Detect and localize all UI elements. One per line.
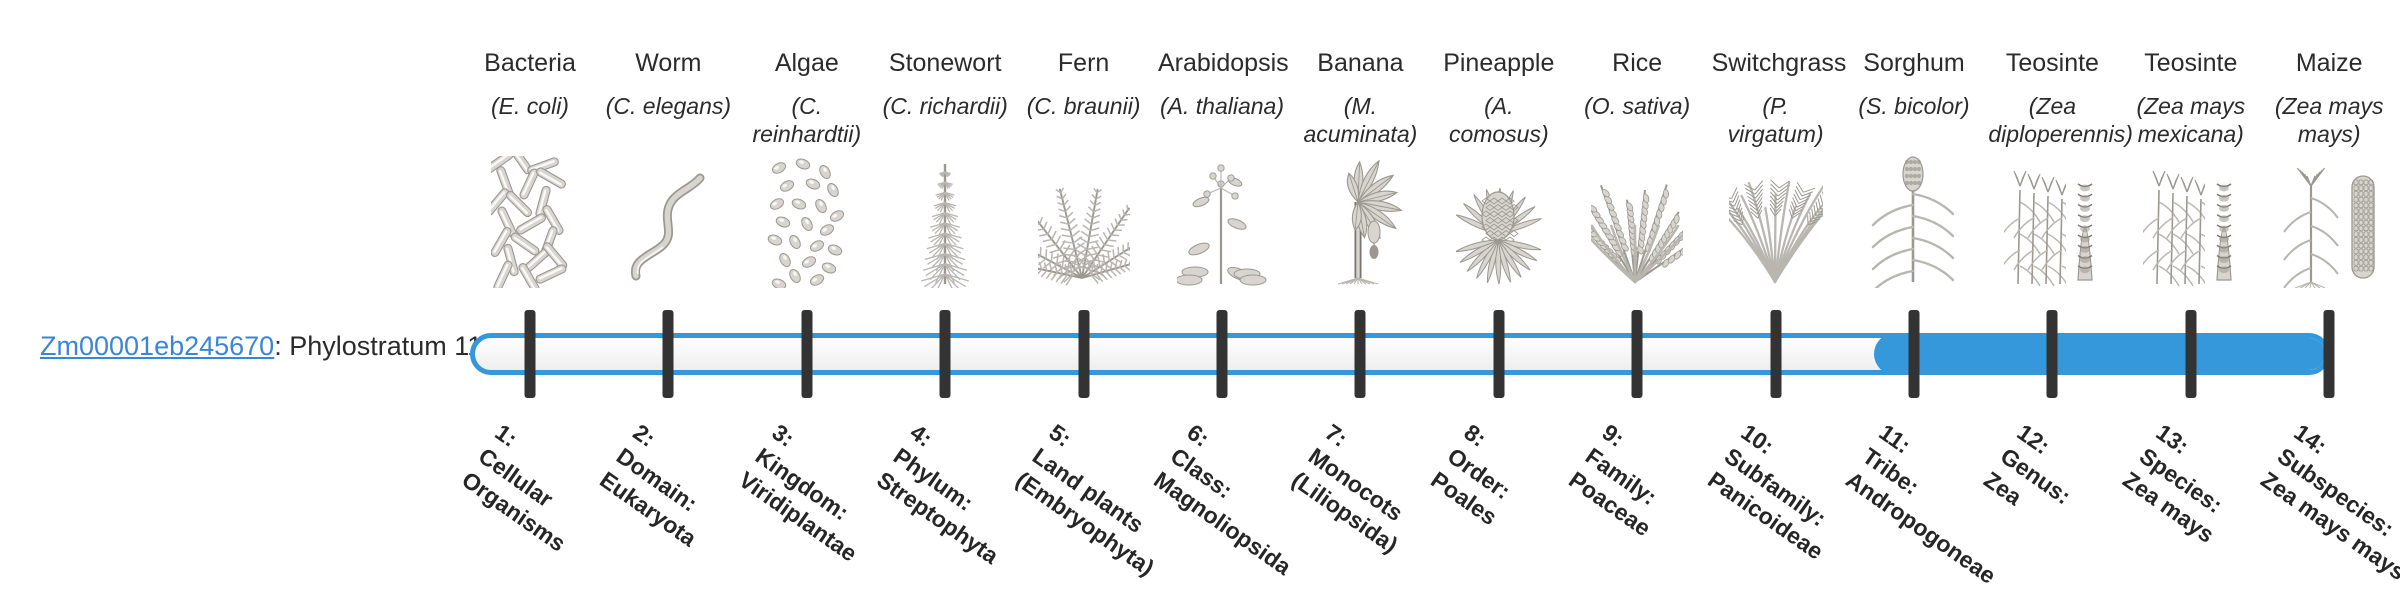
phylostratum-timeline-fill [1874, 333, 2330, 375]
species-column-pineapple-7: Pineapple(A. comosus) [1435, 48, 1563, 148]
phylostratum-label-3: 3:Kingdom:Viridiplantae [733, 418, 896, 568]
species-column-algae-2: Algae(C. reinhardtii) [743, 48, 871, 148]
species-common-name: Banana [1296, 48, 1424, 78]
phylostratigraphy-figure: Zm00001eb245670: Phylostratum 11 Bacteri… [0, 0, 2400, 580]
stonewort-alga-icon [881, 168, 1009, 288]
species-common-name: Arabidopsis [1158, 48, 1286, 78]
species-column-teosinte-12: Teosinte(Zea mays mexicana) [2127, 48, 2255, 148]
maize-plant-and-ear-icon [2265, 168, 2393, 288]
species-column-banana-6: Banana(M. acuminata) [1296, 48, 1424, 148]
ecoli-rods-icon [466, 168, 594, 288]
teosinte-plant-and-ear-icon [1988, 168, 2116, 288]
species-common-name: Bacteria [466, 48, 594, 78]
species-latin-name: (O. sativa) [1573, 92, 1701, 120]
species-common-name: Rice [1573, 48, 1701, 78]
species-latin-name: (P. virgatum) [1712, 92, 1840, 148]
species-column-stonewort-3: Stonewort(C. richardii) [881, 48, 1009, 120]
species-column-sorghum-10: Sorghum(S. bicolor) [1850, 48, 1978, 120]
species-common-name: Sorghum [1850, 48, 1978, 78]
species-column-rice-8: Rice(O. sativa) [1573, 48, 1701, 120]
phylostratum-label-1: 1:CellularOrganisms [456, 418, 604, 558]
phylostratum-value: Phylostratum 11 [289, 331, 482, 361]
species-latin-name: (S. bicolor) [1850, 92, 1978, 120]
species-latin-name: (C. richardii) [881, 92, 1009, 120]
species-common-name: Fern [1020, 48, 1148, 78]
species-latin-name: (C. braunii) [1020, 92, 1148, 120]
species-latin-name: (A. thaliana) [1158, 92, 1286, 120]
species-latin-name: (C. elegans) [604, 92, 732, 120]
species-latin-name: (Zea diploperennis) [1988, 92, 2116, 148]
species-column-arabidopsis-5: Arabidopsis(A. thaliana) [1158, 48, 1286, 120]
species-latin-name: (E. coli) [466, 92, 594, 120]
species-column-teosinte-11: Teosinte(Zea diploperennis) [1988, 48, 2116, 148]
species-common-name: Pineapple [1435, 48, 1563, 78]
species-header-row: Bacteria(E. coli)Worm(C. elegans)Algae(C… [0, 0, 2400, 170]
phylostratum-label-9: 9:Family:Poaceae [1563, 418, 1689, 543]
gene-label-separator: : [274, 331, 289, 361]
species-common-name: Worm [604, 48, 732, 78]
species-latin-name: (C. reinhardtii) [743, 92, 871, 148]
phylostratum-label-8: 8:Order:Poales [1425, 418, 1536, 532]
teosinte-plant-and-ear-icon [2127, 168, 2255, 288]
species-common-name: Teosinte [1988, 48, 2116, 78]
sorghum-plant-icon [1850, 168, 1978, 288]
gene-phylostratum-label: Zm00001eb245670: Phylostratum 11 [40, 330, 460, 362]
chlamydomonas-cells-icon [743, 168, 871, 288]
banana-plant-icon [1296, 168, 1424, 288]
gene-id-link[interactable]: Zm00001eb245670 [40, 331, 274, 361]
species-column-switchgrass-9: Switchgrass(P. virgatum) [1712, 48, 1840, 148]
rice-plant-icon [1573, 168, 1701, 288]
arabidopsis-plant-icon [1158, 168, 1286, 288]
species-common-name: Switchgrass [1712, 48, 1840, 78]
species-common-name: Algae [743, 48, 871, 78]
species-latin-name: (Zea mays mays) [2265, 92, 2393, 148]
switchgrass-plant-icon [1712, 168, 1840, 288]
species-column-worm-1: Worm(C. elegans) [604, 48, 732, 120]
species-latin-name: (Zea mays mexicana) [2127, 92, 2255, 148]
phylostratum-label-10: 10:Subfamily:Panicoideae [1702, 418, 1862, 566]
phylostratum-label-2: 2:Domain:Eukaryota [594, 418, 735, 553]
species-latin-name: (A. comosus) [1435, 92, 1563, 148]
species-column-maize-13: Maize(Zea mays mays) [2265, 48, 2393, 148]
species-latin-name: (M. acuminata) [1296, 92, 1424, 148]
species-column-bacteria-0: Bacteria(E. coli) [466, 48, 594, 120]
species-common-name: Teosinte [2127, 48, 2255, 78]
nematode-worm-icon [604, 168, 732, 288]
fern-frond-icon [1020, 168, 1148, 288]
phylostratum-timeline-track[interactable] [470, 333, 2330, 375]
species-common-name: Maize [2265, 48, 2393, 78]
pineapple-plant-icon [1435, 168, 1563, 288]
phylostratum-label-4: 4:Phylum:Streptophyta [871, 418, 1037, 571]
phylostratum-label-14: 14:Subspecies:Zea mays mays [2255, 418, 2400, 587]
phylostratum-label-13: 13:Species:Zea mays [2117, 418, 2253, 549]
species-common-name: Stonewort [881, 48, 1009, 78]
species-column-fern-4: Fern(C. braunii) [1020, 48, 1148, 120]
